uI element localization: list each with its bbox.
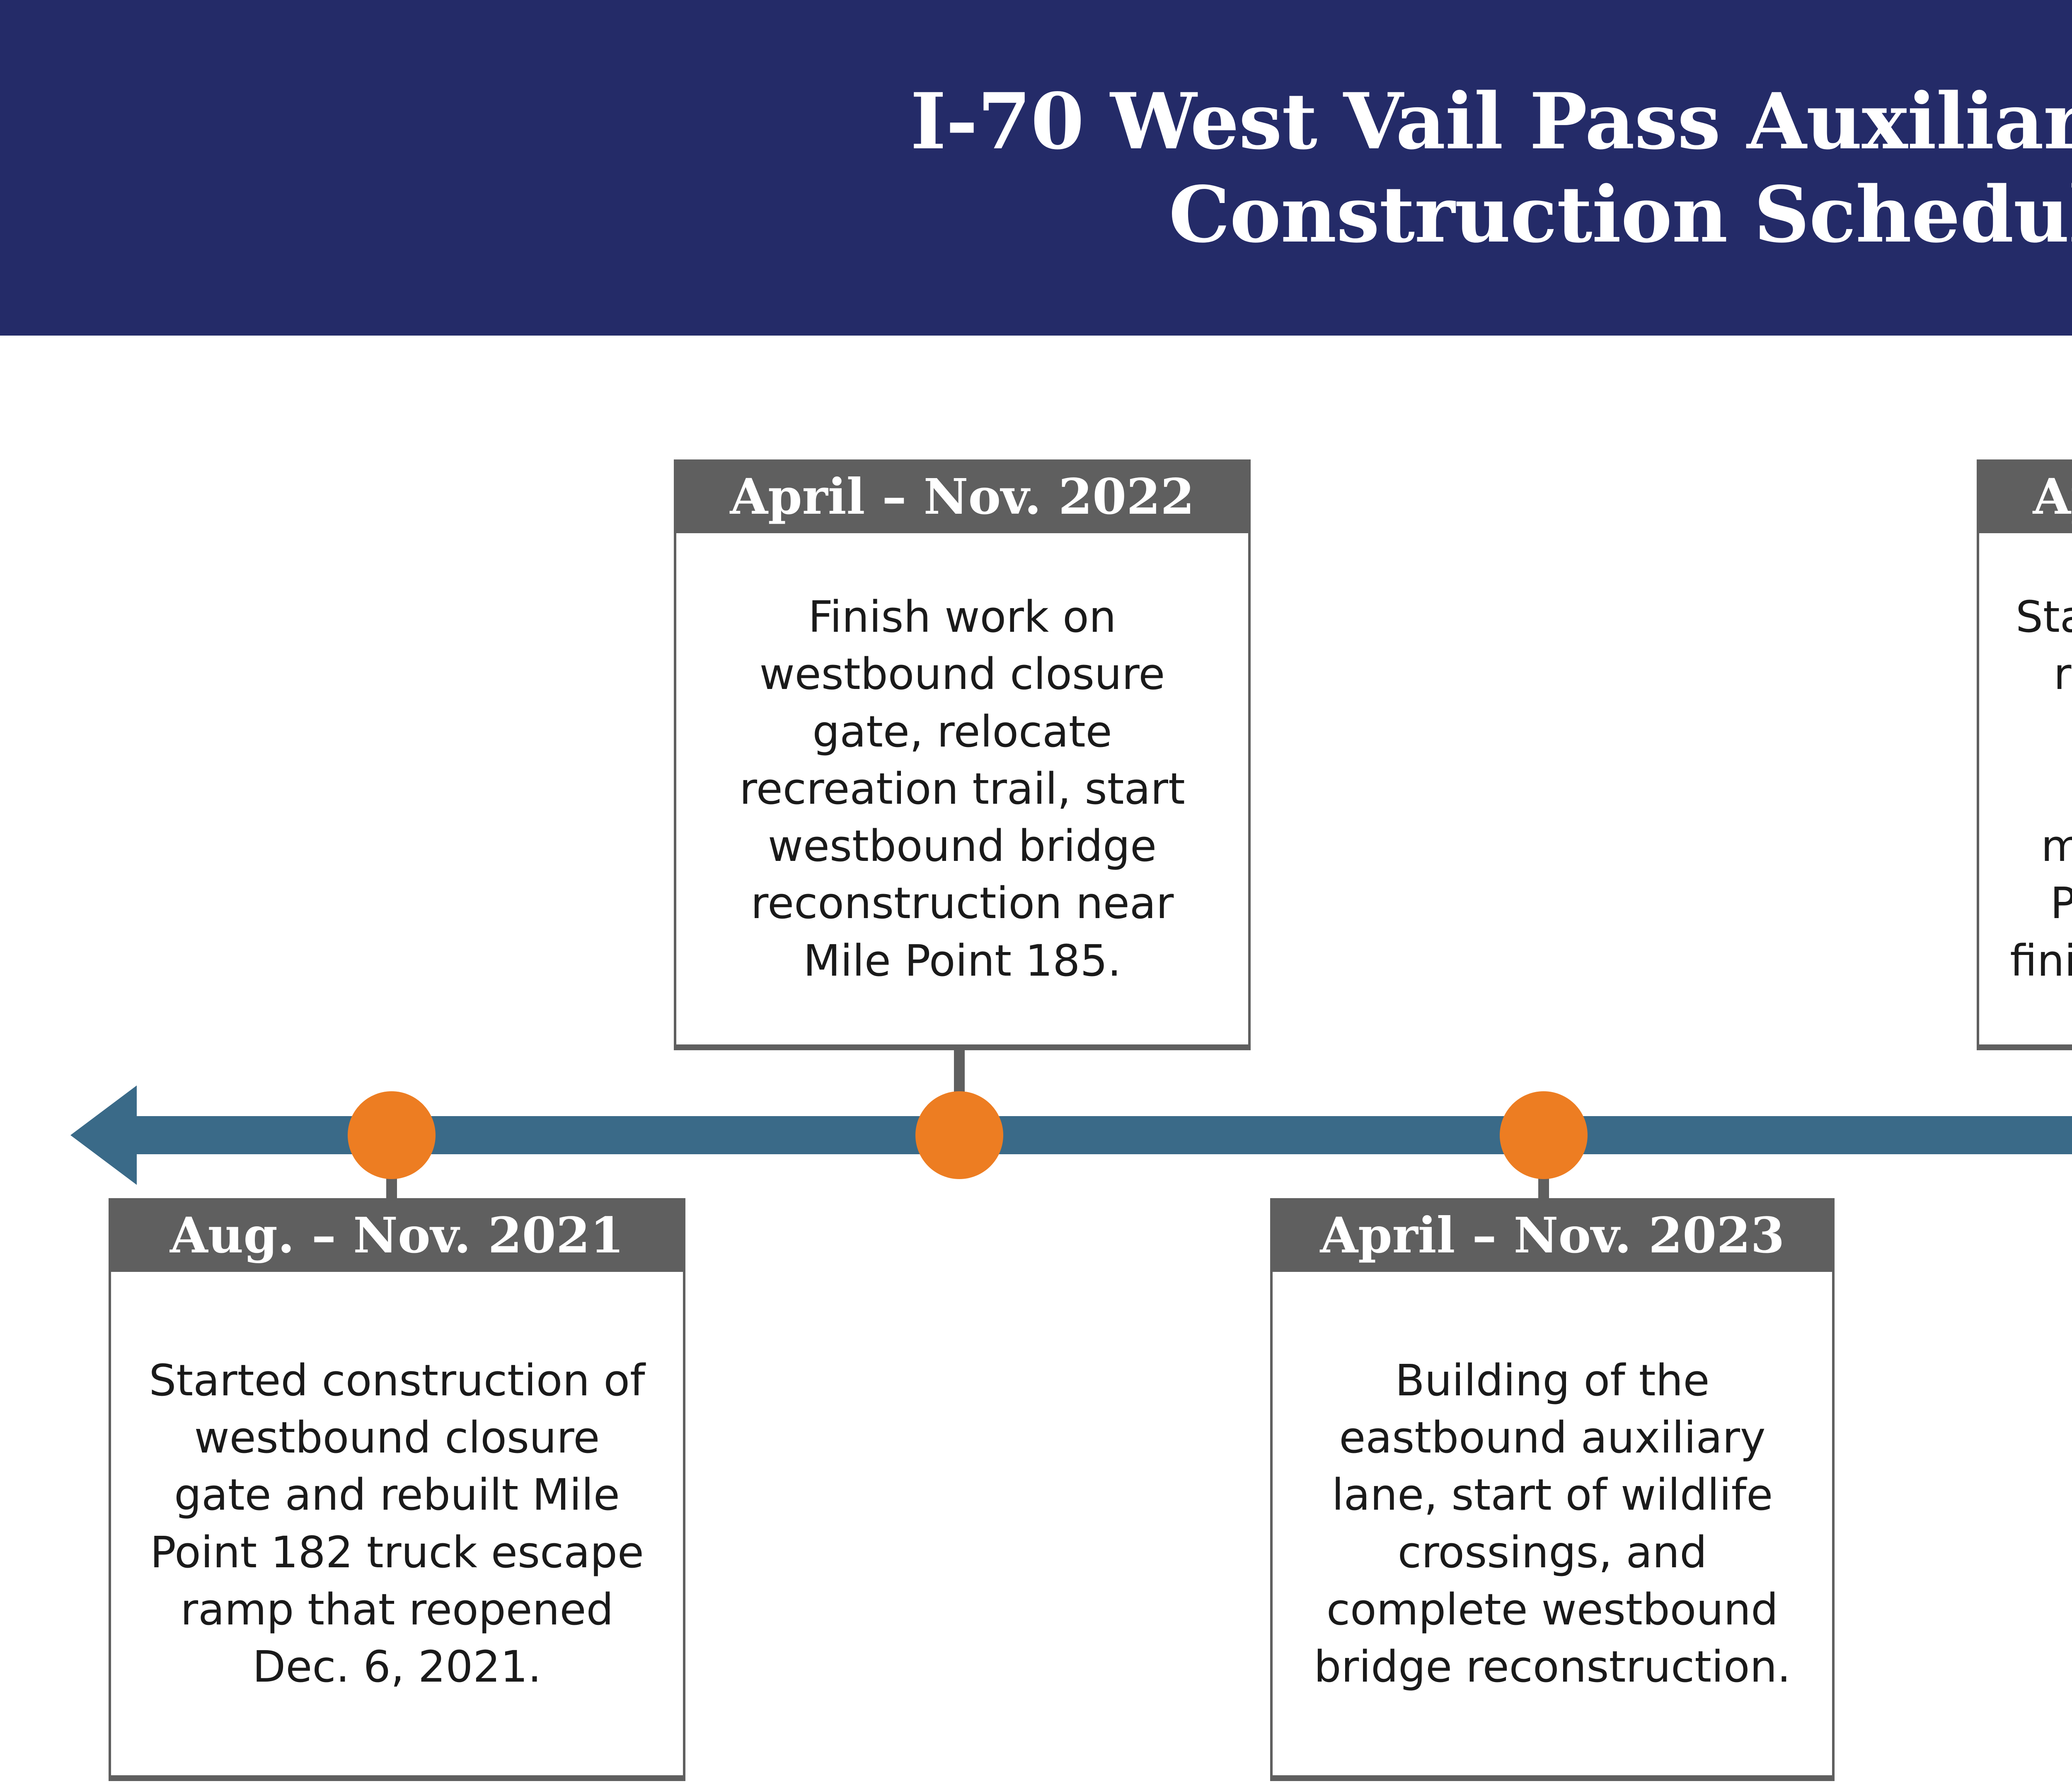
milestone-body-2024: Start eastbound bridge reconstruction ne…: [1979, 588, 2072, 989]
page-header-banner: I-70 West Vail Pass Auxiliary Lanes Cons…: [0, 0, 2072, 336]
milestone-header-2023: April – Nov. 2023: [1270, 1198, 1835, 1272]
milestone-card-2024[interactable]: April – Nov. 2024 Start eastbound bridge…: [1977, 459, 2072, 1050]
milestone-body-wrap-2022: Finish work on westbound closure gate, r…: [674, 533, 1251, 1050]
milestone-card-2022[interactable]: April – Nov. 2022 Finish work on westbou…: [674, 459, 1251, 1050]
milestone-card-2021[interactable]: Aug. – Nov. 2021 Started construction of…: [109, 1198, 685, 1781]
milestone-header-2022: April – Nov. 2022: [674, 459, 1251, 533]
timeline-marker-2023[interactable]: [1500, 1091, 1588, 1179]
timeline-axis: [0, 1081, 2072, 1189]
milestone-header-2024: April – Nov. 2024: [1977, 459, 2072, 533]
milestone-header-2021: Aug. – Nov. 2021: [109, 1198, 685, 1272]
milestone-body-2021: Started construction of westbound closur…: [111, 1352, 683, 1696]
milestone-card-2023[interactable]: April – Nov. 2023 Building of the eastbo…: [1270, 1198, 1835, 1781]
timeline-marker-2021[interactable]: [348, 1091, 436, 1179]
timeline-marker-2022[interactable]: [915, 1091, 1003, 1179]
milestone-body-2023: Building of the eastbound auxiliary lane…: [1273, 1352, 1832, 1696]
page-title: I-70 West Vail Pass Auxiliary Lanes Cons…: [910, 75, 2072, 261]
milestone-body-wrap-2024: Start eastbound bridge reconstruction ne…: [1977, 533, 2072, 1050]
milestone-body-2022: Finish work on westbound closure gate, r…: [676, 588, 1248, 989]
milestone-body-wrap-2021: Started construction of westbound closur…: [109, 1272, 685, 1781]
milestone-body-wrap-2023: Building of the eastbound auxiliary lane…: [1270, 1272, 1835, 1781]
